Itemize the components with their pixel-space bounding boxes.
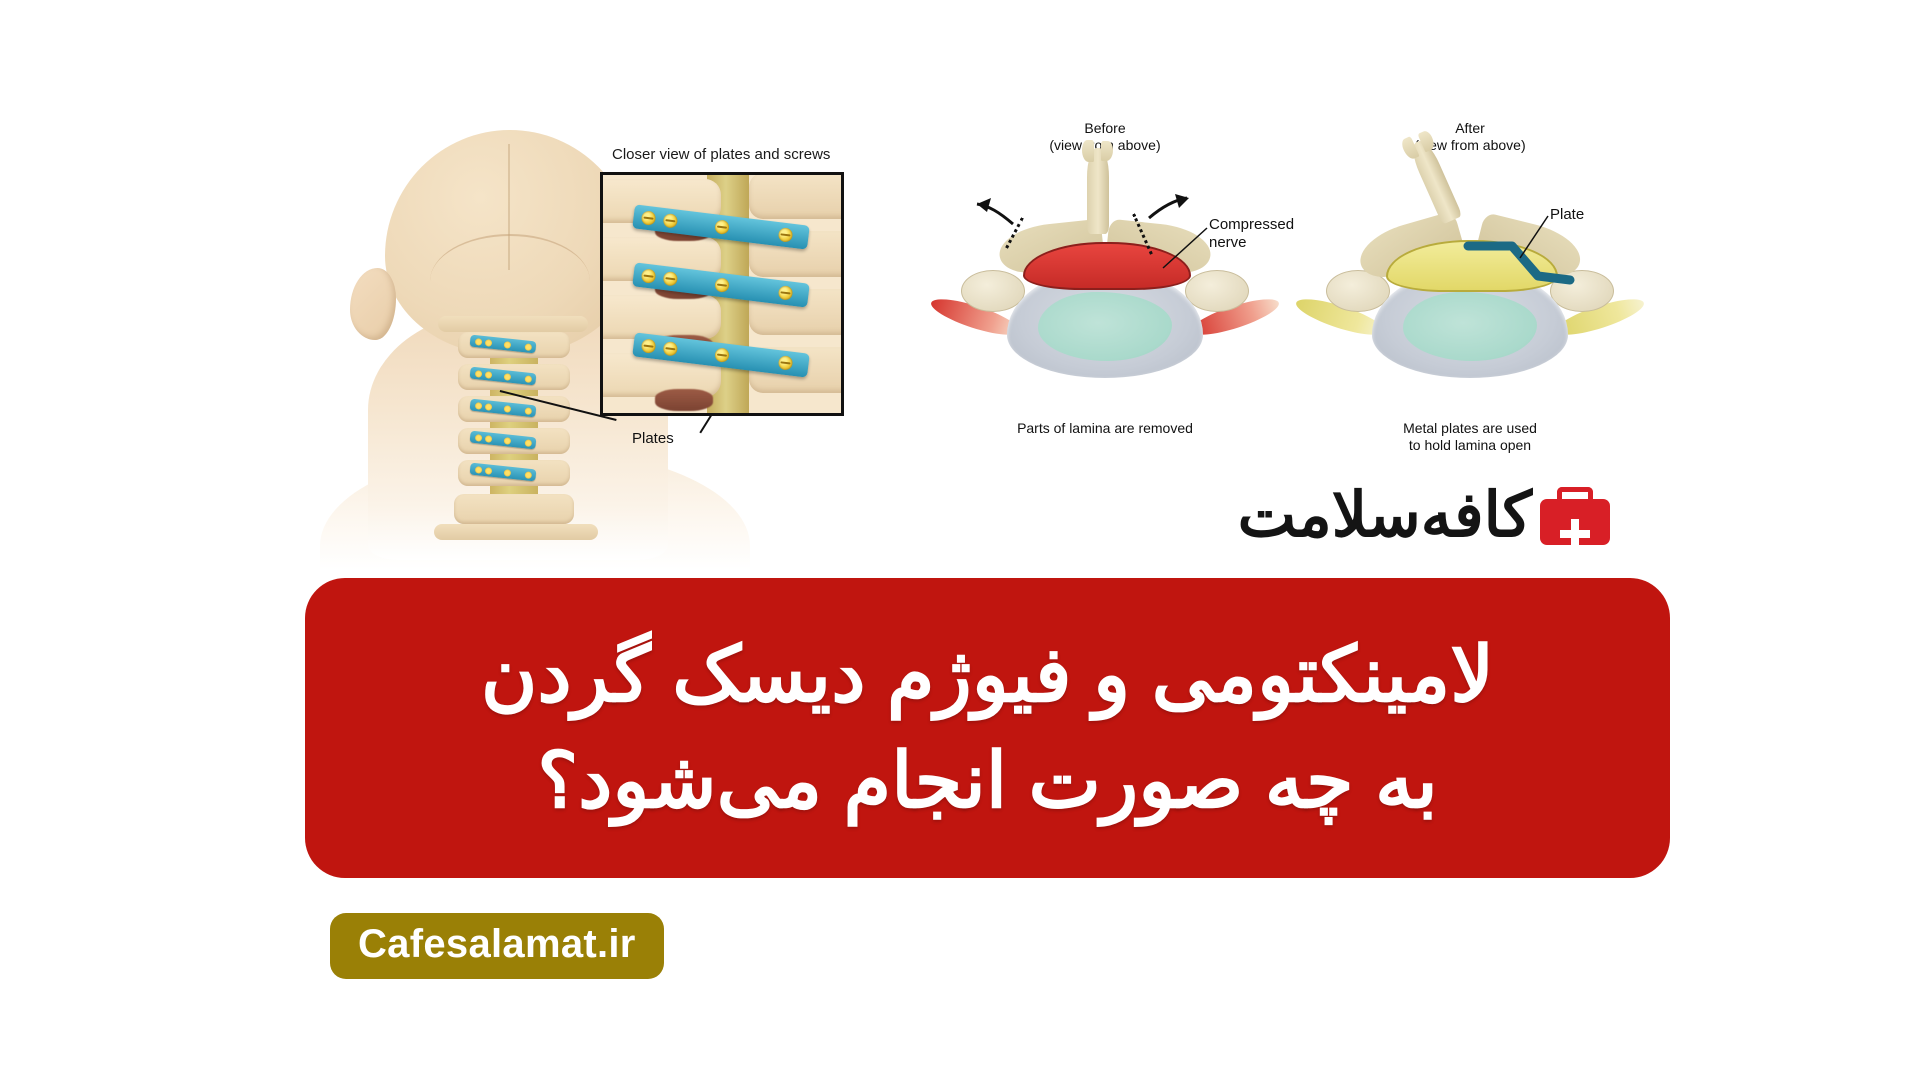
poster-canvas: Plates Closer view of plates and screws — [0, 0, 1920, 1080]
facet-joint-right — [1550, 270, 1614, 312]
after-caption-line1: Metal plates are used — [1320, 420, 1620, 437]
compressed-nerve-label-line2: nerve — [1209, 234, 1247, 251]
before-axial-view: Before (view from above) Compressed — [955, 120, 1255, 420]
site-logo[interactable]: کافه‌سلامت — [1238, 485, 1610, 547]
closer-view-inset — [600, 172, 844, 416]
before-footer-caption: Parts of lamina are removed — [955, 420, 1255, 437]
title-banner: لامینکتومی و فیوژم دیسک گردن به چه صورت … — [305, 578, 1670, 878]
logo-text: کافه‌سلامت — [1238, 485, 1532, 547]
inset-title: Closer view of plates and screws — [612, 146, 892, 163]
compressed-nerve-label-line1: Compressed — [1209, 216, 1294, 233]
medical-illustration-area: Plates Closer view of plates and screws — [0, 0, 1920, 600]
vertebra-right — [749, 173, 844, 219]
intervertebral-disc — [655, 389, 713, 411]
after-footer-caption: Metal plates are used to hold lamina ope… — [1320, 420, 1620, 454]
after-caption-block: After (view from above) — [1320, 120, 1620, 154]
url-badge-text: Cafesalamat.ir — [358, 922, 636, 967]
after-title-line2: (view from above) — [1320, 137, 1620, 154]
vertebra-wings — [434, 524, 598, 540]
bag-body — [1540, 499, 1610, 545]
after-axial-view: After (view from above) Plate Metal plat… — [1320, 120, 1620, 420]
spinous-process — [1087, 148, 1109, 234]
vertebra-left — [600, 295, 721, 339]
url-badge[interactable]: Cafesalamat.ir — [330, 913, 664, 979]
vertebra-wings — [438, 316, 588, 332]
after-title-line1: After — [1320, 120, 1620, 137]
title-line-1: لامینکتومی و فیوژم دیسک گردن — [481, 622, 1494, 728]
cross-horizontal — [1560, 530, 1590, 538]
title-line-2: به چه صورت انجام می‌شود؟ — [481, 728, 1494, 834]
plate-label: Plate — [1550, 206, 1584, 223]
vertebra-body — [454, 494, 574, 524]
ear-shape — [350, 268, 396, 340]
plates-label: Plates — [632, 430, 674, 447]
before-title-line1: Before — [955, 120, 1255, 137]
after-caption-line2: to hold lamina open — [1320, 437, 1620, 454]
medical-bag-icon — [1540, 487, 1610, 545]
facet-joint-right — [1185, 270, 1249, 312]
title-text: لامینکتومی و فیوژم دیسک گردن به چه صورت … — [441, 622, 1534, 835]
